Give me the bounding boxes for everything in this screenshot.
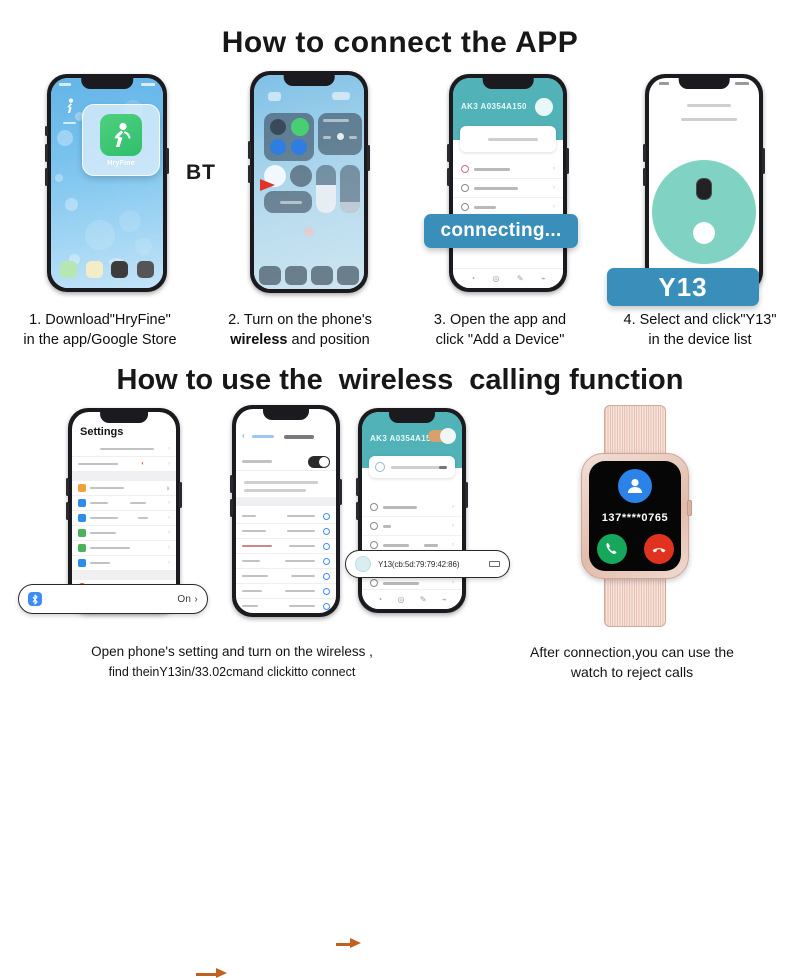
power-button — [339, 479, 342, 505]
app-header-title: AK3 A0354A150 — [461, 102, 527, 111]
device-row[interactable] — [236, 554, 336, 569]
y13-banner: Y13 — [607, 268, 759, 306]
phone-step-3: AK3 A0354A150 › › › › — [449, 74, 567, 292]
chevron-right-icon: › — [194, 594, 198, 605]
watch-incoming-call-screen: 137****0765 — [589, 461, 681, 571]
settings-row-apple-id[interactable]: › — [72, 442, 176, 457]
phone-step-2 — [250, 71, 368, 293]
notch — [81, 78, 133, 89]
smartwatch: 137****0765 — [556, 401, 714, 629]
list-item[interactable]: › — [362, 498, 462, 517]
phone-3-screen: AK3 A0354A150 › › › › — [453, 78, 563, 288]
caption-step-4: 4. Select and click"Y13" in the device l… — [600, 310, 800, 350]
title-part-bold: wireless — [339, 364, 453, 396]
settings-row-suggestions[interactable]: ◐› — [72, 457, 176, 472]
device-mac-label: Y13(cb:5d:79:79:42:86) — [378, 560, 459, 569]
brightness-slider[interactable] — [316, 165, 336, 213]
app-menu-list: › › › › — [453, 160, 563, 266]
notch — [284, 75, 335, 86]
device-row[interactable] — [236, 539, 336, 554]
volume-down-button — [66, 502, 69, 520]
page-title-calling: How to use thewirelesscalling function — [0, 350, 800, 397]
settings-title: Settings — [80, 426, 123, 438]
connecting-banner: connecting... — [424, 214, 578, 248]
volume-slider[interactable] — [340, 165, 360, 213]
caller-number: 137****0765 — [602, 512, 669, 524]
phone-app-device: AK3 A0354A150 › › › › › › ◔ ◎ ✎ ⌁ — [358, 408, 466, 613]
avatar[interactable] — [440, 428, 456, 444]
battery-icon — [489, 561, 500, 567]
power-button — [465, 482, 468, 508]
power-button — [762, 148, 765, 174]
volume-down-button — [356, 502, 359, 520]
phone-1-screen: HryFine — [51, 78, 163, 288]
tab-activity[interactable]: ◎ — [493, 274, 500, 283]
volume-down-button — [230, 499, 233, 517]
flow-arrow-2 — [350, 938, 361, 948]
power-button — [367, 145, 370, 171]
paired-device-card[interactable] — [369, 456, 455, 478]
timer-button[interactable] — [285, 266, 307, 285]
notch — [100, 412, 148, 423]
phone-step-4 — [645, 74, 763, 292]
phone-bluetooth-list: ‹ — [232, 405, 340, 617]
connect-steps-row: HryFine BT — [0, 66, 800, 306]
power-button — [179, 482, 182, 508]
calling-captions: Open phone's setting and turn on the wir… — [0, 642, 800, 682]
connectivity-tile[interactable] — [264, 113, 314, 161]
device-row[interactable] — [236, 569, 336, 584]
app-tab-bar: ◔ ◎ ✎ ⌁ — [453, 268, 563, 288]
notch — [679, 78, 730, 89]
caption-step-3: 3. Open the app and click "Add a Device" — [400, 310, 600, 350]
phone-2-screen — [254, 75, 364, 289]
smartwatch-icon — [696, 178, 712, 200]
settings-screen: Settings › ◐› ◑ › — [72, 412, 176, 609]
caption-bold-wireless: wireless — [230, 332, 287, 348]
notch — [483, 78, 534, 89]
bluetooth-device-list — [236, 509, 336, 613]
bluetooth-avatar-icon — [355, 556, 371, 572]
volume-up-button — [643, 144, 646, 162]
volume-up-button — [248, 141, 251, 159]
volume-up-button — [447, 144, 450, 162]
phone-settings: Settings › ◐› ◑ › — [68, 408, 180, 613]
volume-down-button — [643, 168, 646, 186]
phone-decline-icon[interactable] — [644, 534, 674, 564]
calculator-button[interactable] — [311, 266, 333, 285]
red-arrow-pointer — [260, 179, 275, 191]
device-center-dot — [693, 222, 715, 244]
bluetooth-master-toggle-row[interactable] — [236, 453, 336, 471]
caption-step-1: 1. Download"HryFine" in the app/Google S… — [0, 310, 200, 350]
app-header-title: AK3 A0354A150 — [370, 434, 436, 443]
cellular-toggle[interactable] — [291, 118, 309, 136]
dock-camera-icon[interactable] — [137, 261, 154, 278]
focus-indicator — [304, 227, 314, 237]
power-button — [166, 148, 169, 174]
tab-profile[interactable]: ⌁ — [442, 595, 447, 604]
volume-up-button — [356, 478, 359, 496]
volume-down-button — [447, 168, 450, 186]
settings-row-hotspot[interactable]: › — [72, 541, 176, 556]
tab-activity[interactable]: ◎ — [398, 595, 405, 604]
do-not-disturb-toggle[interactable] — [290, 165, 312, 187]
screen-mirroring-tile[interactable] — [264, 191, 312, 213]
bluetooth-icon — [28, 592, 42, 606]
bluetooth-screen: ‹ — [236, 409, 336, 613]
volume-down-button — [45, 168, 48, 186]
running-person-icon — [100, 114, 142, 156]
tab-edit[interactable]: ✎ — [517, 274, 524, 283]
bluetooth-toggle[interactable] — [308, 456, 330, 468]
caption-calling-right: After connection,you can use the watch t… — [464, 642, 800, 682]
back-button[interactable]: ‹ — [242, 431, 245, 440]
page-title-connect: How to connect the APP — [0, 0, 800, 60]
hryfine-app-icon-zoom[interactable]: HryFine — [82, 104, 160, 176]
call-actions — [597, 534, 674, 564]
bluetooth-state-label: On — [177, 594, 191, 605]
device-row[interactable] — [236, 509, 336, 524]
connect-captions: 1. Download"HryFine" in the app/Google S… — [0, 310, 800, 350]
avatar[interactable] — [535, 98, 553, 116]
device-row[interactable] — [236, 584, 336, 599]
phone-4-screen — [649, 78, 759, 288]
settings-row-bluetooth[interactable]: › — [72, 511, 176, 526]
tab-home[interactable]: ◔ — [470, 274, 475, 283]
dock-settings-icon[interactable] — [111, 261, 128, 278]
volume-up-button — [230, 475, 233, 493]
caption-bold-wireless: wireless — [317, 644, 366, 659]
now-playing-tile[interactable] — [318, 113, 362, 155]
volume-up-button — [45, 144, 48, 162]
settings-row-cellular[interactable]: › — [72, 526, 176, 541]
phone-step-1: HryFine — [47, 74, 167, 292]
dock-notes-icon[interactable] — [86, 261, 103, 278]
list-item[interactable]: › — [362, 517, 462, 536]
device-mac-callout[interactable]: Y13(cb:5d:79:79:42:86) — [345, 550, 510, 578]
tab-home[interactable]: ◔ — [377, 595, 382, 604]
device-summary-card[interactable] — [460, 126, 556, 152]
settings-row-airplane[interactable]: ◑ — [72, 481, 176, 496]
dock-phone-icon[interactable] — [60, 261, 77, 278]
caption-step-2: 2. Turn on the phone's wireless and posi… — [200, 310, 400, 350]
dock — [51, 258, 163, 280]
power-button — [566, 148, 569, 174]
tab-edit[interactable]: ✎ — [420, 595, 427, 604]
notch — [389, 412, 435, 423]
device-row[interactable] — [236, 524, 336, 539]
settings-row-vpn[interactable]: › — [72, 556, 176, 571]
volume-up-button — [66, 478, 69, 496]
title-part-2: calling function — [469, 364, 683, 396]
app-tab-bar: ◔ ◎ ✎ ⌁ — [362, 589, 462, 609]
flow-arrow-1 — [216, 968, 227, 978]
title-part-1: How to use the — [117, 364, 323, 396]
hryfine-app-label: HryFine — [107, 160, 134, 167]
airplane-toggle[interactable] — [270, 119, 286, 135]
volume-down-button — [248, 165, 251, 183]
bt-label: BT — [186, 161, 216, 185]
caption-calling-left: Open phone's setting and turn on the wir… — [0, 642, 464, 682]
bluetooth-toggle[interactable] — [291, 139, 307, 155]
list-item[interactable]: › — [453, 160, 563, 179]
contact-person-icon — [618, 469, 652, 503]
notch — [263, 409, 309, 420]
settings-row-wifi[interactable]: › — [72, 496, 176, 511]
watch-case: 137****0765 — [581, 453, 689, 579]
control-center-shortcuts — [259, 266, 359, 285]
tab-profile[interactable]: ⌁ — [541, 274, 546, 283]
wifi-toggle[interactable] — [270, 139, 286, 155]
list-item[interactable]: › — [453, 179, 563, 198]
app-device-screen: AK3 A0354A150 › › › › › › ◔ ◎ ✎ ⌁ — [362, 412, 462, 609]
hryfine-home-icon[interactable] — [63, 98, 76, 119]
device-row[interactable] — [236, 599, 336, 613]
watch-crown-button[interactable] — [687, 500, 692, 516]
phone-accept-icon[interactable] — [597, 534, 627, 564]
camera-button[interactable] — [337, 266, 359, 285]
device-illustration[interactable] — [652, 160, 756, 264]
flashlight-button[interactable] — [259, 266, 281, 285]
mute-switch — [45, 126, 48, 136]
bluetooth-on-callout[interactable]: On › — [18, 584, 208, 614]
